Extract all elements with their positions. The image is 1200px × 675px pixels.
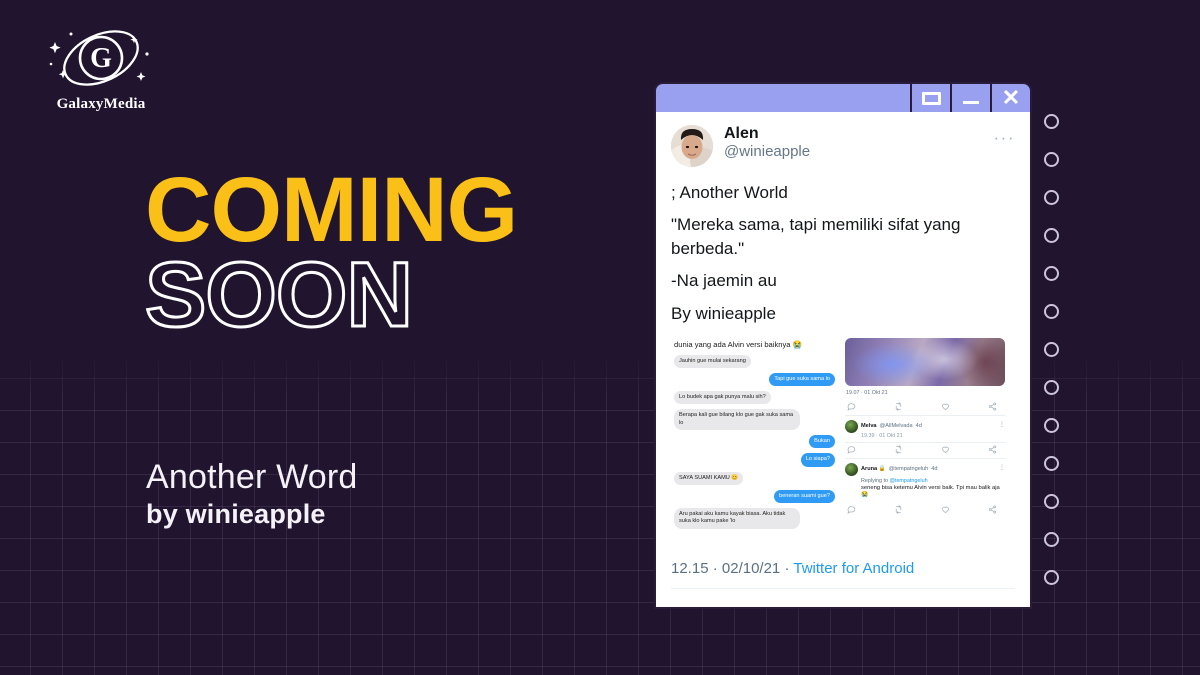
thread-action-row	[845, 400, 1005, 413]
replying-to-handle[interactable]: @tempatngeluh	[889, 478, 927, 484]
circle-outline-icon	[1044, 456, 1059, 471]
avatar[interactable]	[671, 125, 713, 167]
tweet-line-4: By winieapple	[671, 302, 1015, 326]
circle-outline-icon	[1044, 418, 1059, 433]
decorative-dot-column	[1044, 114, 1070, 594]
chat-row: Bukan	[674, 435, 835, 453]
reply-text: seneng bisa ketemu Alvin versi baik. Tpi…	[861, 485, 1005, 501]
chat-bubble: SAYA SUAMI KAMU 😊	[674, 472, 743, 485]
author-handle: @winieapple	[724, 143, 994, 162]
tweet-line-3: -Na jaemin au	[671, 269, 1015, 293]
circle-outline-icon	[1044, 266, 1059, 281]
story-byline: by winieapple	[146, 499, 358, 530]
reply-icon[interactable]	[847, 505, 856, 514]
chat-bubble: Jauhin gue mulai sekarang	[674, 355, 751, 368]
reply-action-row	[845, 503, 1005, 516]
circle-outline-icon	[1044, 114, 1059, 129]
reply-avatar	[845, 420, 858, 433]
chat-bubble: beneran suami gue?	[774, 490, 835, 503]
reply-more-icon[interactable]: ⋮	[999, 467, 1005, 471]
chat-bubble: Lo siapa?	[801, 453, 835, 466]
reply-action-row	[845, 442, 1005, 456]
close-icon: ✕	[1002, 87, 1020, 109]
close-button[interactable]: ✕	[990, 84, 1030, 112]
chat-bubble: Lo budek apa gak punya malu sih?	[674, 391, 771, 404]
headline-line-coming: COMING	[145, 168, 517, 253]
chat-bubble: Aru pakai aku kamu kayak biasa. Aku tida…	[674, 508, 800, 529]
reply-item[interactable]: Melva @AllMelvada 4d ⋮ 19.39 · 01 Okt 21	[845, 415, 1005, 456]
chat-screenshot: dunia yang ada Alvin versi baiknya 😭 Jau…	[671, 338, 838, 534]
reply-author-name: Melva	[861, 423, 877, 429]
reply-author-name: Aruna 🔒	[861, 466, 886, 472]
reply-icon[interactable]	[847, 445, 856, 454]
headline-line-soon: SOON	[145, 249, 517, 341]
photo-overlay	[845, 338, 1005, 386]
footer-separator: ·	[784, 560, 789, 577]
retweet-icon[interactable]	[894, 445, 903, 454]
chat-row: Jauhin gue mulai sekarang	[674, 355, 835, 373]
more-options-icon[interactable]: ···	[994, 125, 1015, 146]
chat-row: beneran suami gue?	[674, 490, 835, 508]
story-title: Another Word	[146, 458, 358, 497]
tweet-footer: 12.15 · 02/10/21 · Twitter for Android	[671, 560, 1015, 589]
reply-age: 4d	[916, 423, 922, 429]
chat-row: Lo budek apa gak punya malu sih?	[674, 391, 835, 409]
tweet-time: 12.15	[671, 560, 709, 577]
reply-icon[interactable]	[847, 402, 856, 411]
author-display-name: Alen	[724, 125, 994, 143]
tweet-date: 02/10/21	[722, 560, 780, 577]
chat-header-text: dunia yang ada Alvin versi baiknya 😭	[674, 340, 835, 350]
chat-row: Aru pakai aku kamu kayak biasa. Aku tida…	[674, 508, 835, 534]
reply-author-handle: @AllMelvada	[880, 423, 913, 429]
window-titlebar: ✕	[654, 82, 1032, 112]
brand-name: GalaxyMedia	[26, 96, 176, 113]
share-icon[interactable]	[988, 402, 997, 411]
maximize-button[interactable]	[910, 84, 950, 112]
reply-item[interactable]: Aruna 🔒 @tempatngeluh 4d ⋮ Replying to @…	[845, 458, 1005, 517]
retweet-icon[interactable]	[894, 505, 903, 514]
chat-bubble: Berapa kali gue bilang klo gue gak suka …	[674, 409, 800, 430]
like-icon[interactable]	[941, 505, 950, 514]
tweet-header: Alen @winieapple ···	[671, 125, 1015, 167]
chat-row: SAYA SUAMI KAMU 😊	[674, 472, 835, 490]
like-icon[interactable]	[941, 445, 950, 454]
circle-outline-icon	[1044, 228, 1059, 243]
circle-outline-icon	[1044, 342, 1059, 357]
share-icon[interactable]	[988, 505, 997, 514]
retweet-icon[interactable]	[894, 402, 903, 411]
circle-outline-icon	[1044, 494, 1059, 509]
chat-row: Berapa kali gue bilang klo gue gak suka …	[674, 409, 835, 435]
thread-screenshot: 19.07 · 01 Okt 21 Melva @AllMelvada 4d ⋮	[845, 338, 1005, 534]
thread-timestamp: 19.07 · 01 Okt 21	[846, 390, 1005, 396]
chat-bubble: Tapi gue suka sama lo	[769, 373, 835, 386]
minimize-icon	[963, 101, 979, 104]
reply-author-handle: @tempatngeluh	[889, 466, 929, 472]
circle-outline-icon	[1044, 304, 1059, 319]
footer-separator: ·	[713, 560, 718, 577]
reply-avatar	[845, 463, 858, 476]
brand-logo: G GalaxyMedia	[26, 24, 176, 122]
reply-header: Aruna 🔒 @tempatngeluh 4d ⋮	[845, 463, 1005, 476]
tweet-author-block: Alen @winieapple	[724, 125, 994, 162]
svg-text:G: G	[90, 43, 112, 74]
tweet-attachment-image[interactable]: dunia yang ada Alvin versi baiknya 😭 Jau…	[671, 338, 1015, 534]
tweet-line-2: "Mereka sama, tapi memiliki sifat yang b…	[671, 213, 1015, 261]
galaxy-swirl-icon: G	[26, 24, 176, 96]
chat-row: Lo siapa?	[674, 453, 835, 471]
reply-age: 4d	[931, 466, 937, 472]
like-icon[interactable]	[941, 402, 950, 411]
tweet-card-body: Alen @winieapple ··· ; Another World "Me…	[654, 112, 1032, 609]
chat-row: Tapi gue suka sama lo	[674, 373, 835, 391]
tweet-line-1: ; Another World	[671, 181, 1015, 205]
tweet-text: ; Another World "Mereka sama, tapi memil…	[671, 181, 1015, 326]
subtitle-block: Another Word by winieapple	[146, 458, 358, 530]
circle-outline-icon	[1044, 190, 1059, 205]
circle-outline-icon	[1044, 570, 1059, 585]
reply-header: Melva @AllMelvada 4d ⋮	[845, 420, 1005, 433]
replying-to-text: Replying to	[861, 478, 889, 484]
chat-bubble: Bukan	[809, 435, 835, 448]
reply-ghost-timestamp: 19.39 · 01 Okt 21	[861, 433, 1005, 439]
maximize-icon	[922, 92, 941, 105]
circle-outline-icon	[1044, 152, 1059, 167]
reply-more-icon[interactable]: ⋮	[999, 424, 1005, 428]
tweet-window: ✕ Alen @winieapple ···	[654, 82, 1032, 609]
thread-photo	[845, 338, 1005, 386]
page-title: COMING SOON	[145, 168, 517, 341]
tweet-source-link[interactable]: Twitter for Android	[793, 560, 914, 577]
replying-to-label: Replying to @tempatngeluh	[861, 478, 1005, 484]
circle-outline-icon	[1044, 380, 1059, 395]
minimize-button[interactable]	[950, 84, 990, 112]
circle-outline-icon	[1044, 532, 1059, 547]
share-icon[interactable]	[988, 445, 997, 454]
